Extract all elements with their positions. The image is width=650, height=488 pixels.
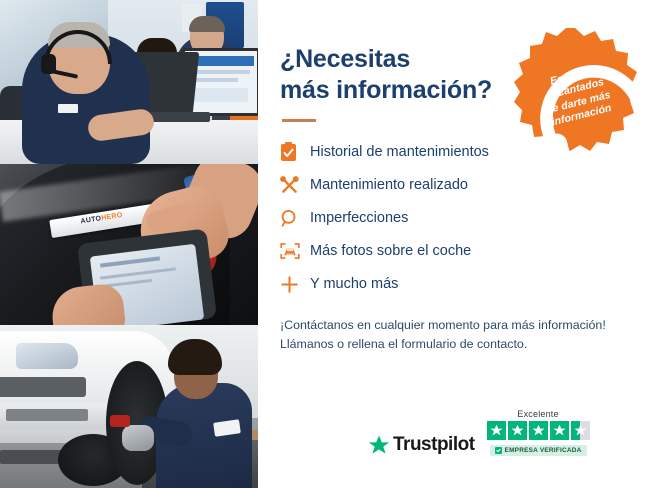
- ruler-brand-auto: AUTO: [80, 215, 102, 225]
- feature-label: Y mucho más: [310, 277, 398, 292]
- feature-label: Historial de mantenimientos: [310, 145, 489, 160]
- trustpilot-widget[interactable]: Trustpilot Excelente: [368, 409, 590, 456]
- photo-vehicle-inspection: AUTOHERO: [0, 164, 258, 325]
- trustpilot-logo[interactable]: Trustpilot: [368, 434, 475, 456]
- plus-icon: [280, 275, 310, 294]
- car-headlight: [16, 343, 78, 369]
- feature-item-much-more: Y mucho más: [280, 268, 628, 300]
- photo-call-center: [0, 0, 258, 164]
- photo-column: AUTOHERO: [0, 0, 258, 488]
- tools-wrench-screwdriver-icon: [280, 176, 310, 195]
- feature-label: Imperfecciones: [310, 211, 408, 226]
- contact-line-1: ¡Contáctanos en cualquier momento para m…: [280, 318, 606, 332]
- headline-line-1: ¿Necesitas: [280, 45, 410, 73]
- headline-line-2: más información?: [280, 76, 492, 104]
- trustpilot-name: Trustpilot: [393, 434, 475, 456]
- support-badge: Estamos encantados de darte más informac…: [512, 26, 638, 152]
- star-filled: [550, 421, 569, 440]
- employee-name-badge: [58, 104, 78, 113]
- trustpilot-star-icon: [368, 435, 390, 456]
- photo-wheel-service: [0, 325, 258, 488]
- star-filled: [508, 421, 527, 440]
- feature-item-imperfections: Imperfecciones: [280, 202, 628, 234]
- feature-label: Más fotos sobre el coche: [310, 244, 471, 259]
- magnifier-icon: [280, 209, 310, 228]
- mechanic-tool: [110, 415, 130, 427]
- bumper-vent: [6, 409, 88, 421]
- verified-check-icon: [495, 447, 502, 454]
- contact-text: ¡Contáctanos en cualquier momento para m…: [280, 316, 628, 354]
- star-half: [571, 421, 590, 440]
- feature-label: Mantenimiento realizado: [310, 178, 468, 193]
- background-agent-2-hair: [189, 16, 225, 32]
- title-divider: [282, 119, 316, 122]
- contact-line-2: Llámanos o rellena el formulario de cont…: [280, 337, 527, 351]
- monitor-ui-block: [188, 88, 248, 102]
- trustpilot-rating: Excelente: [487, 409, 590, 456]
- star-rating: [487, 421, 590, 440]
- car-scan-icon: [280, 242, 310, 260]
- rating-label: Excelente: [517, 409, 558, 419]
- content-panel: ¿Necesitas más información? Estamos enca…: [258, 0, 650, 488]
- car-grille: [0, 377, 86, 397]
- clipboard-check-icon: [280, 142, 310, 162]
- star-filled: [529, 421, 548, 440]
- star-filled: [487, 421, 506, 440]
- verified-badge: EMPRESA VERIFICADA: [490, 445, 587, 456]
- promo-banner: AUTOHERO: [0, 0, 650, 488]
- feature-item-more-photos: Más fotos sobre el coche: [280, 235, 628, 267]
- verified-label: EMPRESA VERIFICADA: [505, 447, 582, 454]
- ruler-brand-hero: HERO: [101, 212, 123, 222]
- page-title: ¿Necesitas más información?: [280, 44, 520, 105]
- mechanic-glove: [122, 425, 154, 451]
